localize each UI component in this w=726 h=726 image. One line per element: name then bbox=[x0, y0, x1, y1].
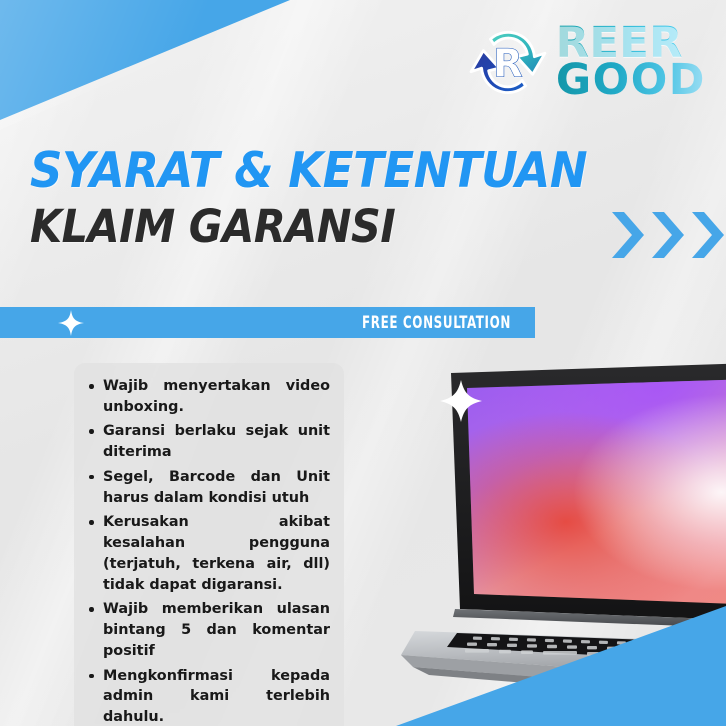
logo-text-good: GOOD bbox=[556, 62, 706, 99]
headline-line-1: SYARAT & KETENTUAN bbox=[30, 146, 587, 196]
chevron-right-icon bbox=[650, 210, 686, 260]
term-text: Wajib memberikan ulasan bintang 5 dan ko… bbox=[103, 601, 330, 658]
term-text: Kerusakan akibat kesalahan pengguna (ter… bbox=[103, 514, 330, 592]
list-item: Segel, Barcode dan Unit harus dalam kond… bbox=[86, 467, 330, 508]
sparkle-star-icon bbox=[58, 310, 84, 336]
list-item: Mengkonfirmasi kepada admin kami terlebi… bbox=[86, 666, 330, 726]
terms-panel: Wajib menyertakan video unboxing. Garans… bbox=[74, 363, 344, 726]
headline-line-2: KLAIM GARANSI bbox=[30, 204, 587, 250]
svg-text:R: R bbox=[493, 42, 523, 87]
terms-list: Wajib menyertakan video unboxing. Garans… bbox=[86, 376, 330, 726]
list-item: Kerusakan akibat kesalahan pengguna (ter… bbox=[86, 512, 330, 595]
top-left-wedge-sheen bbox=[0, 0, 300, 130]
free-consultation-band: FREE CONSULTATION bbox=[0, 307, 535, 338]
term-text: Mengkonfirmasi kepada admin kami terlebi… bbox=[103, 668, 330, 725]
poster-canvas: R R REER GOOD SYARAT & KETENTUAN KLAIM G… bbox=[0, 0, 726, 726]
term-text: Garansi berlaku sejak unit diterima bbox=[103, 423, 330, 460]
chevron-right-icon bbox=[690, 210, 726, 260]
list-item: Garansi berlaku sejak unit diterima bbox=[86, 421, 330, 462]
brand-logo: R R REER GOOD bbox=[464, 18, 706, 106]
free-consultation-label: FREE CONSULTATION bbox=[362, 313, 511, 333]
circular-arrows-r-logo-icon: R R bbox=[464, 18, 552, 106]
term-text: Segel, Barcode dan Unit harus dalam kond… bbox=[103, 469, 330, 506]
chevron-arrow-group bbox=[610, 210, 726, 260]
chevron-right-icon bbox=[610, 210, 646, 260]
list-item: Wajib menyertakan video unboxing. bbox=[86, 376, 330, 417]
list-item: Wajib memberikan ulasan bintang 5 dan ko… bbox=[86, 599, 330, 661]
term-text: Wajib menyertakan video unboxing. bbox=[103, 378, 330, 415]
headline-block: SYARAT & KETENTUAN KLAIM GARANSI bbox=[30, 146, 636, 250]
